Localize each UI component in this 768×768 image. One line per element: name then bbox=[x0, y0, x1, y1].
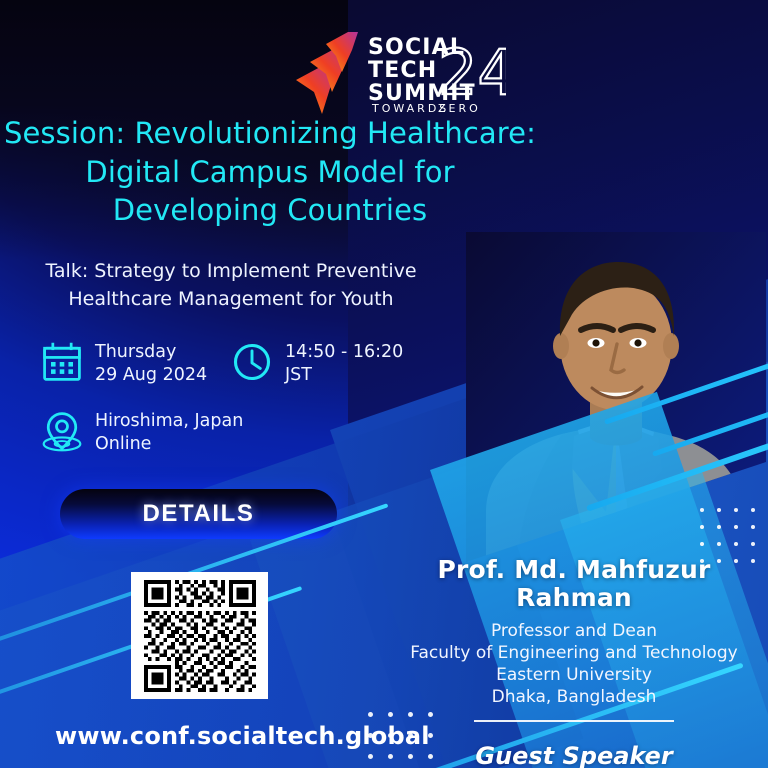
qr-code-icon bbox=[144, 580, 256, 692]
accent-stroke-1 bbox=[604, 352, 768, 425]
speaker-name: Prof. Md. Mahfuzur Rahman bbox=[380, 556, 768, 611]
event-poster: SOCIAL TECH SUMMIT 24 TOWARDS ZERO Sessi… bbox=[0, 0, 768, 768]
speaker-info: Prof. Md. Mahfuzur Rahman Professor and … bbox=[380, 556, 768, 768]
accent-stroke-2 bbox=[652, 377, 768, 457]
website-url[interactable]: www.conf.socialtech.global bbox=[55, 722, 430, 750]
speaker-university: Eastern University bbox=[380, 664, 768, 686]
speaker-faculty: Faculty of Engineering and Technology bbox=[380, 642, 768, 664]
qr-code[interactable] bbox=[131, 572, 268, 699]
speaker-role: Guest Speaker bbox=[380, 742, 768, 768]
speaker-affiliation: Professor and Dean Faculty of Engineerin… bbox=[380, 620, 768, 708]
speaker-title: Professor and Dean bbox=[380, 620, 768, 642]
speaker-divider bbox=[474, 720, 674, 722]
speaker-city: Dhaka, Bangladesh bbox=[380, 686, 768, 708]
